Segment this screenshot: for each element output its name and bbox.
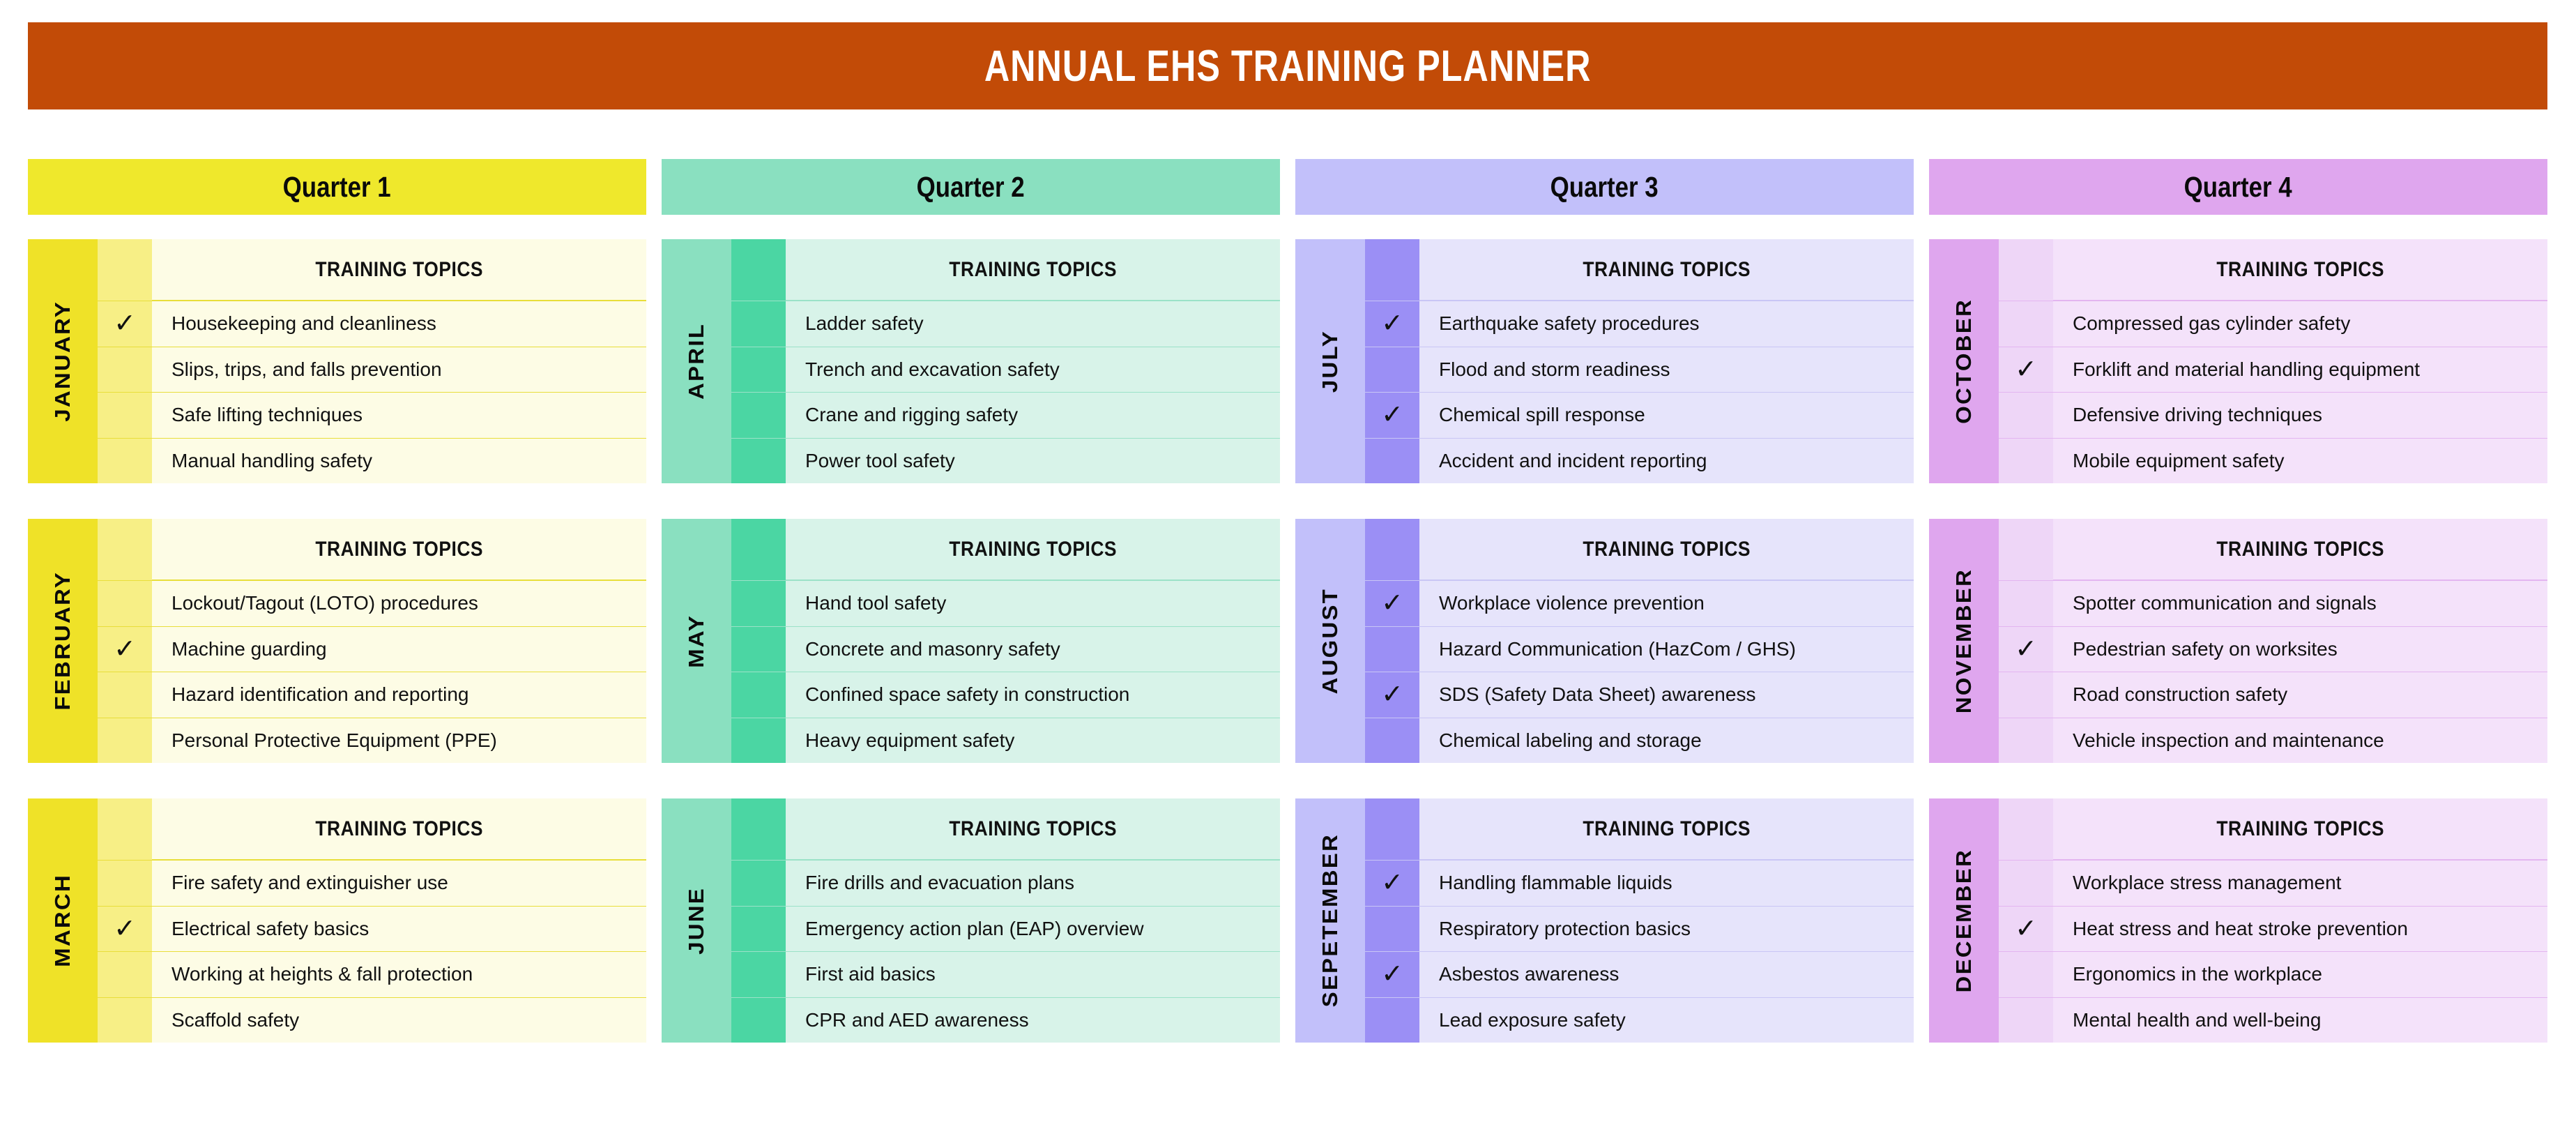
month-name: JUNE bbox=[685, 887, 709, 955]
training-topic-label: Forklift and material handling equipment bbox=[2053, 347, 2547, 393]
table-row[interactable]: ✓Heat stress and heat stroke prevention bbox=[1999, 906, 2547, 952]
checkmark-icon[interactable]: ✓ bbox=[1365, 951, 1419, 997]
checkmark-icon[interactable]: ✓ bbox=[98, 626, 152, 672]
header-check-spacer bbox=[731, 798, 786, 860]
month-label-cell: MAY bbox=[662, 519, 731, 763]
topics-column-header: TRAINING TOPICS bbox=[2053, 239, 2547, 301]
topics-header-row: TRAINING TOPICS bbox=[1365, 519, 1914, 580]
quarter-column: Quarter 2APRILTRAINING TOPICSLadder safe… bbox=[662, 159, 1280, 1121]
topics-column-header-label: TRAINING TOPICS bbox=[2216, 817, 2384, 841]
month-table: SEPETEMBERTRAINING TOPICS✓Handling flamm… bbox=[1295, 798, 1914, 1043]
month-table: DECEMBERTRAINING TOPICSWorkplace stress … bbox=[1929, 798, 2547, 1043]
training-topic-label: Vehicle inspection and maintenance bbox=[2053, 718, 2547, 764]
quarter-header-label: Quarter 3 bbox=[1550, 171, 1659, 204]
table-row[interactable]: Lockout/Tagout (LOTO) procedures bbox=[98, 580, 646, 626]
month-name: DECEMBER bbox=[1952, 849, 1976, 992]
table-row[interactable]: Respiratory protection basics bbox=[1365, 906, 1914, 952]
topics-column-header-label: TRAINING TOPICS bbox=[949, 258, 1117, 282]
quarter-header: Quarter 3 bbox=[1295, 159, 1914, 215]
month-label-cell: SEPETEMBER bbox=[1295, 798, 1365, 1043]
training-topic-label: Manual handling safety bbox=[152, 438, 646, 484]
checkbox-cell[interactable] bbox=[1365, 718, 1419, 764]
table-row[interactable]: Working at heights & fall protection bbox=[98, 951, 646, 997]
training-topic-label: Personal Protective Equipment (PPE) bbox=[152, 718, 646, 764]
month-table: OCTOBERTRAINING TOPICSCompressed gas cyl… bbox=[1929, 239, 2547, 483]
month-label-cell: AUGUST bbox=[1295, 519, 1365, 763]
training-topic-label: Safe lifting techniques bbox=[152, 392, 646, 438]
topics-column-header-label: TRAINING TOPICS bbox=[1583, 538, 1751, 561]
topics-column-header: TRAINING TOPICS bbox=[2053, 798, 2547, 860]
month-label-cell: JULY bbox=[1295, 239, 1365, 483]
topics-column-header-label: TRAINING TOPICS bbox=[315, 817, 483, 841]
month-label-cell: JUNE bbox=[662, 798, 731, 1043]
topics-header-row: TRAINING TOPICS bbox=[731, 519, 1280, 580]
topics-header-row: TRAINING TOPICS bbox=[98, 239, 646, 301]
month-label-cell: APRIL bbox=[662, 239, 731, 483]
month-label-cell: OCTOBER bbox=[1929, 239, 1999, 483]
quarter-header: Quarter 2 bbox=[662, 159, 1280, 215]
header-check-spacer bbox=[1999, 519, 2053, 580]
month-table: MARCHTRAINING TOPICSFire safety and exti… bbox=[28, 798, 646, 1043]
table-row[interactable]: Compressed gas cylinder safety bbox=[1999, 301, 2547, 347]
training-topic-label: Fire drills and evacuation plans bbox=[786, 860, 1280, 906]
checkbox-cell[interactable] bbox=[98, 392, 152, 438]
page-title: ANNUAL EHS TRAINING PLANNER bbox=[984, 41, 1592, 91]
table-row[interactable]: ✓SDS (Safety Data Sheet) awareness bbox=[1365, 672, 1914, 718]
training-topic-label: Power tool safety bbox=[786, 438, 1280, 484]
checkbox-cell[interactable] bbox=[1999, 580, 2053, 626]
table-row[interactable]: Lead exposure safety bbox=[1365, 997, 1914, 1043]
header-check-spacer bbox=[1999, 239, 2053, 301]
table-row[interactable]: Safe lifting techniques bbox=[98, 392, 646, 438]
month-table: NOVEMBERTRAINING TOPICSSpotter communica… bbox=[1929, 519, 2547, 763]
training-topic-label: Working at heights & fall protection bbox=[152, 951, 646, 997]
training-topic-label: Trench and excavation safety bbox=[786, 347, 1280, 393]
table-row[interactable]: Emergency action plan (EAP) overview bbox=[731, 906, 1280, 952]
checkmark-icon[interactable]: ✓ bbox=[1999, 626, 2053, 672]
checkbox-cell[interactable] bbox=[731, 580, 786, 626]
checkbox-cell[interactable] bbox=[1999, 997, 2053, 1043]
training-topic-label: Hand tool safety bbox=[786, 580, 1280, 626]
quarter-header-label: Quarter 1 bbox=[283, 171, 391, 204]
table-row[interactable]: ✓Chemical spill response bbox=[1365, 392, 1914, 438]
month-tables: JANUARYTRAINING TOPICS✓Housekeeping and … bbox=[28, 239, 646, 1043]
quarter-header: Quarter 4 bbox=[1929, 159, 2547, 215]
table-row[interactable]: Vehicle inspection and maintenance bbox=[1999, 718, 2547, 764]
checkbox-cell[interactable] bbox=[98, 997, 152, 1043]
training-topic-label: Hazard identification and reporting bbox=[152, 672, 646, 718]
topics-column-header: TRAINING TOPICS bbox=[1419, 519, 1914, 580]
training-topic-label: Respiratory protection basics bbox=[1419, 906, 1914, 952]
month-name: JANUARY bbox=[51, 301, 75, 422]
table-row[interactable]: Road construction safety bbox=[1999, 672, 2547, 718]
table-row[interactable]: Hazard Communication (HazCom / GHS) bbox=[1365, 626, 1914, 672]
table-row[interactable]: First aid basics bbox=[731, 951, 1280, 997]
table-row[interactable]: ✓Handling flammable liquids bbox=[1365, 860, 1914, 906]
month-name: SEPETEMBER bbox=[1318, 833, 1343, 1007]
table-row[interactable]: Slips, trips, and falls prevention bbox=[98, 347, 646, 393]
month-rows: TRAINING TOPICS✓Handling flammable liqui… bbox=[1365, 798, 1914, 1043]
table-row[interactable]: ✓Asbestos awareness bbox=[1365, 951, 1914, 997]
checkbox-cell[interactable] bbox=[731, 906, 786, 952]
checkbox-cell[interactable] bbox=[1365, 347, 1419, 393]
table-row[interactable]: ✓Forklift and material handling equipmen… bbox=[1999, 347, 2547, 393]
topics-header-row: TRAINING TOPICS bbox=[1999, 239, 2547, 301]
topics-column-header: TRAINING TOPICS bbox=[786, 239, 1280, 301]
training-topic-label: Crane and rigging safety bbox=[786, 392, 1280, 438]
table-row[interactable]: Personal Protective Equipment (PPE) bbox=[98, 718, 646, 764]
checkbox-cell[interactable] bbox=[1999, 860, 2053, 906]
month-rows: TRAINING TOPICSCompressed gas cylinder s… bbox=[1999, 239, 2547, 483]
checkmark-icon[interactable]: ✓ bbox=[1365, 672, 1419, 718]
training-topic-label: Chemical spill response bbox=[1419, 392, 1914, 438]
topics-header-row: TRAINING TOPICS bbox=[1365, 798, 1914, 860]
month-rows: TRAINING TOPICSFire drills and evacuatio… bbox=[731, 798, 1280, 1043]
table-row[interactable]: ✓Machine guarding bbox=[98, 626, 646, 672]
checkbox-cell[interactable] bbox=[1365, 997, 1419, 1043]
training-topic-label: Earthquake safety procedures bbox=[1419, 301, 1914, 347]
topics-column-header: TRAINING TOPICS bbox=[152, 798, 646, 860]
checkbox-cell[interactable] bbox=[98, 347, 152, 393]
training-topic-label: Accident and incident reporting bbox=[1419, 438, 1914, 484]
checkbox-cell[interactable] bbox=[98, 438, 152, 484]
training-topic-label: Flood and storm readiness bbox=[1419, 347, 1914, 393]
topics-column-header: TRAINING TOPICS bbox=[786, 519, 1280, 580]
month-table: JANUARYTRAINING TOPICS✓Housekeeping and … bbox=[28, 239, 646, 483]
checkbox-cell[interactable] bbox=[731, 860, 786, 906]
month-rows: TRAINING TOPICSLockout/Tagout (LOTO) pro… bbox=[98, 519, 646, 763]
checkbox-cell[interactable] bbox=[1999, 672, 2053, 718]
month-name: NOVEMBER bbox=[1952, 568, 1976, 713]
table-row[interactable]: Spotter communication and signals bbox=[1999, 580, 2547, 626]
topics-column-header-label: TRAINING TOPICS bbox=[1583, 817, 1751, 841]
table-row[interactable]: Hazard identification and reporting bbox=[98, 672, 646, 718]
training-topic-label: Electrical safety basics bbox=[152, 906, 646, 952]
checkbox-cell[interactable] bbox=[98, 580, 152, 626]
checkmark-icon[interactable]: ✓ bbox=[98, 906, 152, 952]
checkbox-cell[interactable] bbox=[731, 392, 786, 438]
table-row[interactable]: Crane and rigging safety bbox=[731, 392, 1280, 438]
table-row[interactable]: CPR and AED awareness bbox=[731, 997, 1280, 1043]
quarter-header-label: Quarter 2 bbox=[917, 171, 1025, 204]
training-topic-label: Handling flammable liquids bbox=[1419, 860, 1914, 906]
month-rows: TRAINING TOPICS✓Housekeeping and cleanli… bbox=[98, 239, 646, 483]
topics-column-header-label: TRAINING TOPICS bbox=[2216, 258, 2384, 282]
topics-header-row: TRAINING TOPICS bbox=[1999, 519, 2547, 580]
table-row[interactable]: Heavy equipment safety bbox=[731, 718, 1280, 764]
month-rows: TRAINING TOPICSLadder safetyTrench and e… bbox=[731, 239, 1280, 483]
month-rows: TRAINING TOPICSWorkplace stress manageme… bbox=[1999, 798, 2547, 1043]
training-topic-label: Compressed gas cylinder safety bbox=[2053, 301, 2547, 347]
table-row[interactable]: Accident and incident reporting bbox=[1365, 438, 1914, 484]
month-rows: TRAINING TOPICSHand tool safetyConcrete … bbox=[731, 519, 1280, 763]
training-topic-label: Workplace violence prevention bbox=[1419, 580, 1914, 626]
training-topic-label: Workplace stress management bbox=[2053, 860, 2547, 906]
month-label-cell: MARCH bbox=[28, 798, 98, 1043]
checkbox-cell[interactable] bbox=[98, 860, 152, 906]
month-table: JULYTRAINING TOPICS✓Earthquake safety pr… bbox=[1295, 239, 1914, 483]
topics-column-header-label: TRAINING TOPICS bbox=[2216, 538, 2384, 561]
table-row[interactable]: Scaffold safety bbox=[98, 997, 646, 1043]
month-name: APRIL bbox=[685, 323, 709, 400]
topics-column-header: TRAINING TOPICS bbox=[2053, 519, 2547, 580]
planner-page: ANNUAL EHS TRAINING PLANNER Quarter 1JAN… bbox=[0, 0, 2576, 1136]
checkbox-cell[interactable] bbox=[1365, 438, 1419, 484]
training-topic-label: Asbestos awareness bbox=[1419, 951, 1914, 997]
month-name: FEBRUARY bbox=[51, 571, 75, 711]
month-tables: APRILTRAINING TOPICSLadder safetyTrench … bbox=[662, 239, 1280, 1043]
topics-column-header: TRAINING TOPICS bbox=[786, 798, 1280, 860]
quarter-column: Quarter 3JULYTRAINING TOPICS✓Earthquake … bbox=[1295, 159, 1914, 1121]
checkbox-cell[interactable] bbox=[1365, 906, 1419, 952]
topics-column-header-label: TRAINING TOPICS bbox=[949, 538, 1117, 561]
training-topic-label: Housekeeping and cleanliness bbox=[152, 301, 646, 347]
checkbox-cell[interactable] bbox=[731, 347, 786, 393]
checkmark-icon[interactable]: ✓ bbox=[1365, 580, 1419, 626]
topics-header-row: TRAINING TOPICS bbox=[731, 239, 1280, 301]
header-check-spacer bbox=[1365, 239, 1419, 301]
training-topic-label: First aid basics bbox=[786, 951, 1280, 997]
table-row[interactable]: Hand tool safety bbox=[731, 580, 1280, 626]
header-check-spacer bbox=[731, 239, 786, 301]
month-name: MAY bbox=[685, 614, 709, 668]
month-rows: TRAINING TOPICSFire safety and extinguis… bbox=[98, 798, 646, 1043]
topics-column-header: TRAINING TOPICS bbox=[1419, 798, 1914, 860]
table-row[interactable]: Power tool safety bbox=[731, 438, 1280, 484]
month-table: MAYTRAINING TOPICSHand tool safetyConcre… bbox=[662, 519, 1280, 763]
checkbox-cell[interactable] bbox=[1999, 392, 2053, 438]
header-check-spacer bbox=[1365, 798, 1419, 860]
topics-header-row: TRAINING TOPICS bbox=[731, 798, 1280, 860]
month-name: MARCH bbox=[51, 874, 75, 967]
training-topic-label: Defensive driving techniques bbox=[2053, 392, 2547, 438]
table-row[interactable]: Ladder safety bbox=[731, 301, 1280, 347]
checkbox-cell[interactable] bbox=[731, 626, 786, 672]
header-check-spacer bbox=[98, 798, 152, 860]
training-topic-label: Lockout/Tagout (LOTO) procedures bbox=[152, 580, 646, 626]
quarter-column: Quarter 4OCTOBERTRAINING TOPICSCompresse… bbox=[1929, 159, 2547, 1121]
table-row[interactable]: ✓Workplace violence prevention bbox=[1365, 580, 1914, 626]
month-name: JULY bbox=[1318, 330, 1343, 393]
training-topic-label: Hazard Communication (HazCom / GHS) bbox=[1419, 626, 1914, 672]
training-topic-label: Slips, trips, and falls prevention bbox=[152, 347, 646, 393]
table-row[interactable]: Manual handling safety bbox=[98, 438, 646, 484]
training-topic-label: Machine guarding bbox=[152, 626, 646, 672]
training-topic-label: Heavy equipment safety bbox=[786, 718, 1280, 764]
checkbox-cell[interactable] bbox=[1999, 438, 2053, 484]
checkbox-cell[interactable] bbox=[1999, 951, 2053, 997]
table-row[interactable]: Defensive driving techniques bbox=[1999, 392, 2547, 438]
training-topic-label: Heat stress and heat stroke prevention bbox=[2053, 906, 2547, 952]
training-topic-label: Spotter communication and signals bbox=[2053, 580, 2547, 626]
checkbox-cell[interactable] bbox=[1999, 718, 2053, 764]
topics-header-row: TRAINING TOPICS bbox=[98, 798, 646, 860]
table-row[interactable]: ✓Pedestrian safety on worksites bbox=[1999, 626, 2547, 672]
month-rows: TRAINING TOPICSSpotter communication and… bbox=[1999, 519, 2547, 763]
month-rows: TRAINING TOPICS✓Earthquake safety proced… bbox=[1365, 239, 1914, 483]
checkmark-icon[interactable]: ✓ bbox=[1365, 301, 1419, 347]
training-topic-label: CPR and AED awareness bbox=[786, 997, 1280, 1043]
training-topic-label: Mobile equipment safety bbox=[2053, 438, 2547, 484]
table-row[interactable]: Fire drills and evacuation plans bbox=[731, 860, 1280, 906]
quarter-column: Quarter 1JANUARYTRAINING TOPICS✓Housekee… bbox=[28, 159, 646, 1121]
checkbox-cell[interactable] bbox=[731, 301, 786, 347]
title-banner: ANNUAL EHS TRAINING PLANNER bbox=[28, 22, 2547, 109]
topics-column-header-label: TRAINING TOPICS bbox=[315, 258, 483, 282]
month-tables: OCTOBERTRAINING TOPICSCompressed gas cyl… bbox=[1929, 239, 2547, 1043]
checkbox-cell[interactable] bbox=[1999, 301, 2053, 347]
checkbox-cell[interactable] bbox=[1365, 626, 1419, 672]
topics-column-header-label: TRAINING TOPICS bbox=[1583, 258, 1751, 282]
table-row[interactable]: Confined space safety in construction bbox=[731, 672, 1280, 718]
month-table: JUNETRAINING TOPICSFire drills and evacu… bbox=[662, 798, 1280, 1043]
month-table: APRILTRAINING TOPICSLadder safetyTrench … bbox=[662, 239, 1280, 483]
checkmark-icon[interactable]: ✓ bbox=[98, 301, 152, 347]
table-row[interactable]: Trench and excavation safety bbox=[731, 347, 1280, 393]
checkmark-icon[interactable]: ✓ bbox=[1365, 392, 1419, 438]
checkbox-cell[interactable] bbox=[731, 718, 786, 764]
month-table: FEBRUARYTRAINING TOPICSLockout/Tagout (L… bbox=[28, 519, 646, 763]
training-topic-label: Confined space safety in construction bbox=[786, 672, 1280, 718]
header-check-spacer bbox=[98, 519, 152, 580]
table-row[interactable]: Concrete and masonry safety bbox=[731, 626, 1280, 672]
checkbox-cell[interactable] bbox=[731, 997, 786, 1043]
month-name: AUGUST bbox=[1318, 588, 1343, 695]
quarter-header: Quarter 1 bbox=[28, 159, 646, 215]
checkbox-cell[interactable] bbox=[98, 718, 152, 764]
header-check-spacer bbox=[1999, 798, 2053, 860]
table-row[interactable]: Workplace stress management bbox=[1999, 860, 2547, 906]
topics-header-row: TRAINING TOPICS bbox=[1365, 239, 1914, 301]
month-label-cell: JANUARY bbox=[28, 239, 98, 483]
topics-column-header: TRAINING TOPICS bbox=[1419, 239, 1914, 301]
training-topic-label: Emergency action plan (EAP) overview bbox=[786, 906, 1280, 952]
training-topic-label: Fire safety and extinguisher use bbox=[152, 860, 646, 906]
checkbox-cell[interactable] bbox=[98, 672, 152, 718]
month-table: AUGUSTTRAINING TOPICS✓Workplace violence… bbox=[1295, 519, 1914, 763]
header-check-spacer bbox=[1365, 519, 1419, 580]
month-label-cell: DECEMBER bbox=[1929, 798, 1999, 1043]
training-topic-label: Concrete and masonry safety bbox=[786, 626, 1280, 672]
topics-header-row: TRAINING TOPICS bbox=[1999, 798, 2547, 860]
training-topic-label: Ladder safety bbox=[786, 301, 1280, 347]
month-tables: JULYTRAINING TOPICS✓Earthquake safety pr… bbox=[1295, 239, 1914, 1043]
checkbox-cell[interactable] bbox=[731, 672, 786, 718]
training-topic-label: Chemical labeling and storage bbox=[1419, 718, 1914, 764]
table-row[interactable]: Ergonomics in the workplace bbox=[1999, 951, 2547, 997]
training-topic-label: Pedestrian safety on worksites bbox=[2053, 626, 2547, 672]
checkbox-cell[interactable] bbox=[731, 951, 786, 997]
table-row[interactable]: ✓Earthquake safety procedures bbox=[1365, 301, 1914, 347]
training-topic-label: Mental health and well-being bbox=[2053, 997, 2547, 1043]
training-topic-label: SDS (Safety Data Sheet) awareness bbox=[1419, 672, 1914, 718]
checkbox-cell[interactable] bbox=[731, 438, 786, 484]
topics-column-header: TRAINING TOPICS bbox=[152, 519, 646, 580]
header-check-spacer bbox=[98, 239, 152, 301]
month-name: OCTOBER bbox=[1952, 298, 1976, 424]
checkmark-icon[interactable]: ✓ bbox=[1999, 906, 2053, 952]
topics-column-header-label: TRAINING TOPICS bbox=[949, 817, 1117, 841]
topics-column-header: TRAINING TOPICS bbox=[152, 239, 646, 301]
month-rows: TRAINING TOPICS✓Workplace violence preve… bbox=[1365, 519, 1914, 763]
training-topic-label: Lead exposure safety bbox=[1419, 997, 1914, 1043]
training-topic-label: Ergonomics in the workplace bbox=[2053, 951, 2547, 997]
training-topic-label: Road construction safety bbox=[2053, 672, 2547, 718]
table-row[interactable]: ✓Electrical safety basics bbox=[98, 906, 646, 952]
topics-header-row: TRAINING TOPICS bbox=[98, 519, 646, 580]
table-row[interactable]: Chemical labeling and storage bbox=[1365, 718, 1914, 764]
topics-column-header-label: TRAINING TOPICS bbox=[315, 538, 483, 561]
table-row[interactable]: Mobile equipment safety bbox=[1999, 438, 2547, 484]
checkbox-cell[interactable] bbox=[98, 951, 152, 997]
checkmark-icon[interactable]: ✓ bbox=[1999, 347, 2053, 393]
table-row[interactable]: Flood and storm readiness bbox=[1365, 347, 1914, 393]
checkmark-icon[interactable]: ✓ bbox=[1365, 860, 1419, 906]
training-topic-label: Scaffold safety bbox=[152, 997, 646, 1043]
month-label-cell: FEBRUARY bbox=[28, 519, 98, 763]
quarters-container: Quarter 1JANUARYTRAINING TOPICS✓Housekee… bbox=[28, 159, 2547, 1121]
table-row[interactable]: Fire safety and extinguisher use bbox=[98, 860, 646, 906]
quarter-header-label: Quarter 4 bbox=[2184, 171, 2292, 204]
month-label-cell: NOVEMBER bbox=[1929, 519, 1999, 763]
table-row[interactable]: Mental health and well-being bbox=[1999, 997, 2547, 1043]
header-check-spacer bbox=[731, 519, 786, 580]
table-row[interactable]: ✓Housekeeping and cleanliness bbox=[98, 301, 646, 347]
